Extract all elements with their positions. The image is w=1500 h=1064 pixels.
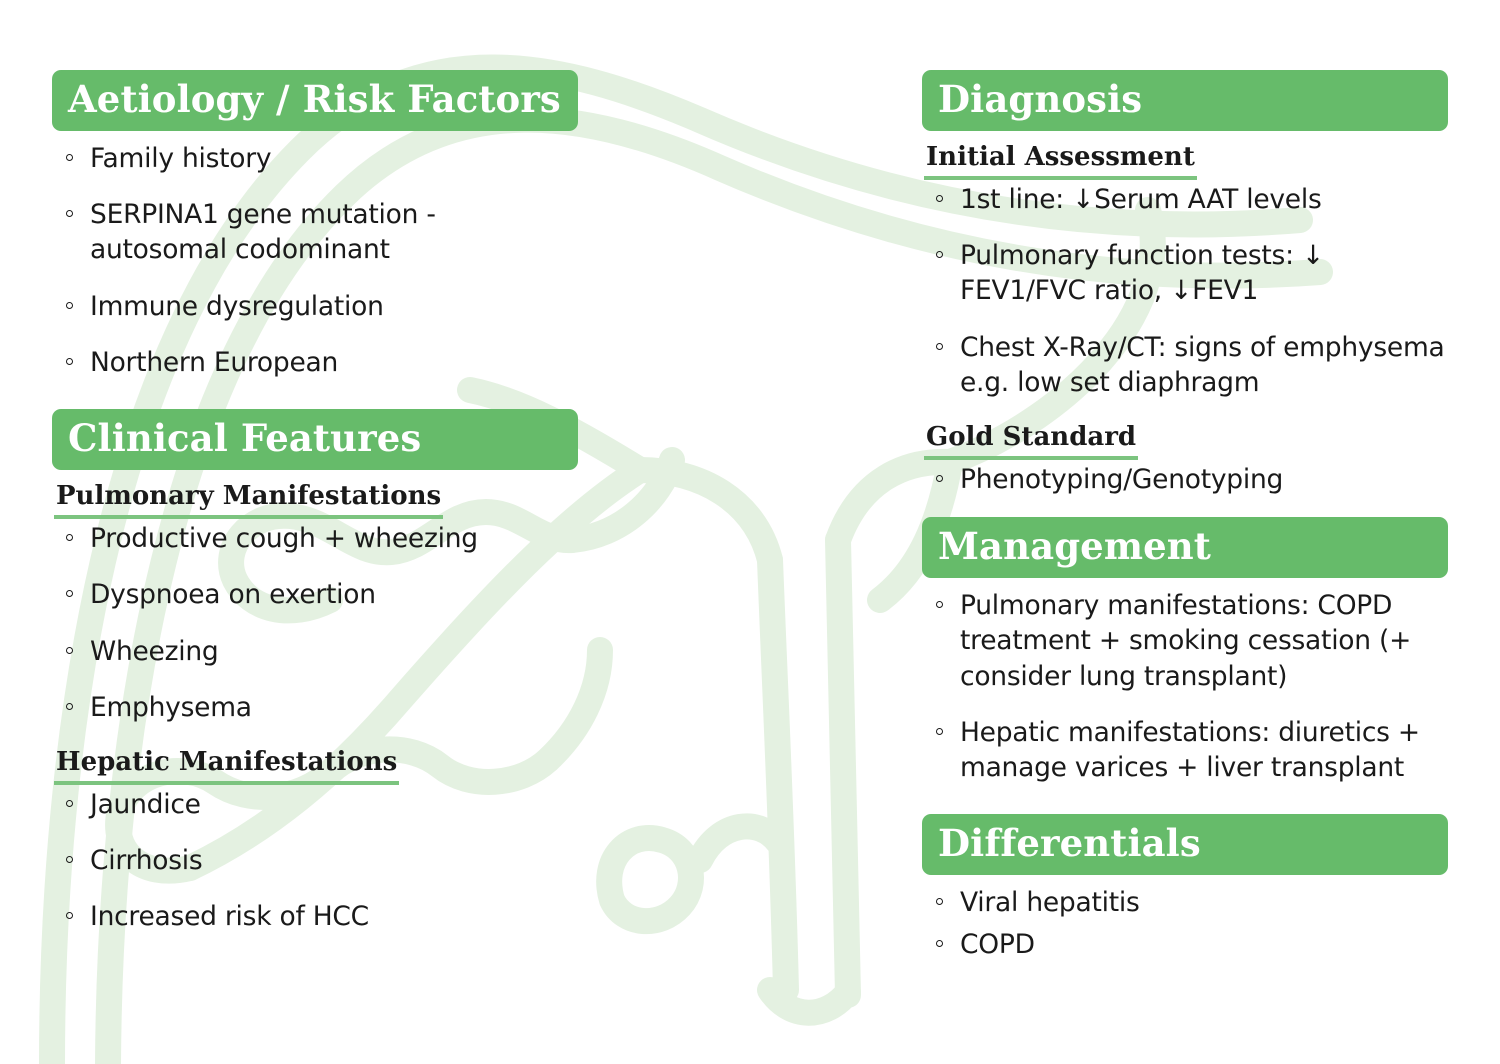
list-item: SERPINA1 gene mutation - autosomal codom… bbox=[52, 197, 578, 267]
subsection-initial-assessment: Initial Assessment bbox=[922, 141, 1448, 182]
list-item: 1st line: ↓Serum AAT levels bbox=[922, 182, 1448, 217]
list-item: Viral hepatitis bbox=[922, 885, 1448, 920]
list-item: Cirrhosis bbox=[52, 843, 578, 878]
list-item: Immune dysregulation bbox=[52, 289, 578, 324]
list-item: Pulmonary function tests: ↓ FEV1/FVC rat… bbox=[922, 238, 1448, 308]
subsection-title-initial-assessment: Initial Assessment bbox=[924, 143, 1197, 180]
bullet-list-management: Pulmonary manifestations: COPD treatment… bbox=[922, 588, 1448, 785]
subsection-title-pulmonary-manifestations: Pulmonary Manifestations bbox=[54, 482, 443, 519]
list-item: Jaundice bbox=[52, 787, 578, 822]
list-item: Dyspnoea on exertion bbox=[52, 577, 578, 612]
left-column: Aetiology / Risk Factors Family history … bbox=[52, 70, 578, 956]
section-header-differentials: Differentials bbox=[922, 814, 1448, 875]
section-differentials: Differentials Viral hepatitis COPD bbox=[922, 814, 1448, 961]
list-item: Phenotyping/Genotyping bbox=[922, 462, 1448, 497]
section-header-aetiology-risk-factors: Aetiology / Risk Factors bbox=[52, 70, 578, 131]
list-item: Hepatic manifestations: diuretics + mana… bbox=[922, 715, 1448, 785]
section-header-diagnosis: Diagnosis bbox=[922, 70, 1448, 131]
subsection-title-hepatic-manifestations: Hepatic Manifestations bbox=[54, 748, 399, 785]
subsection-title-gold-standard: Gold Standard bbox=[924, 423, 1138, 460]
bullet-list-pulmonary-manifestations: Productive cough + wheezing Dyspnoea on … bbox=[52, 521, 578, 725]
subsection-hepatic-manifestations: Hepatic Manifestations bbox=[52, 746, 578, 787]
section-diagnosis: Diagnosis Initial Assessment 1st line: ↓… bbox=[922, 70, 1448, 497]
bullet-list-differentials: Viral hepatitis COPD bbox=[922, 885, 1448, 961]
list-item: Chest X-Ray/CT: signs of emphysema e.g. … bbox=[922, 330, 1448, 400]
spacer bbox=[922, 503, 1448, 517]
list-item: Emphysema bbox=[52, 690, 578, 725]
spacer bbox=[52, 401, 578, 409]
bullet-list-aetiology: Family history SERPINA1 gene mutation - … bbox=[52, 141, 578, 380]
section-header-clinical-features: Clinical Features bbox=[52, 409, 578, 470]
section-clinical-features: Clinical Features Pulmonary Manifestatio… bbox=[52, 409, 578, 934]
subsection-gold-standard: Gold Standard bbox=[922, 421, 1448, 462]
spacer bbox=[922, 806, 1448, 814]
list-item: Pulmonary manifestations: COPD treatment… bbox=[922, 588, 1448, 694]
list-item: Productive cough + wheezing bbox=[52, 521, 578, 556]
section-management: Management Pulmonary manifestations: COP… bbox=[922, 517, 1448, 785]
list-item: Northern European bbox=[52, 345, 578, 380]
list-item: Family history bbox=[52, 141, 578, 176]
list-item: Wheezing bbox=[52, 634, 578, 669]
bullet-list-initial-assessment: 1st line: ↓Serum AAT levels Pulmonary fu… bbox=[922, 182, 1448, 400]
bullet-list-gold-standard: Phenotyping/Genotyping bbox=[922, 462, 1448, 497]
subsection-pulmonary-manifestations: Pulmonary Manifestations bbox=[52, 480, 578, 521]
list-item: COPD bbox=[922, 927, 1448, 962]
right-column: Diagnosis Initial Assessment 1st line: ↓… bbox=[922, 70, 1448, 968]
page-content: Aetiology / Risk Factors Family history … bbox=[0, 0, 1500, 1064]
bullet-list-hepatic-manifestations: Jaundice Cirrhosis Increased risk of HCC bbox=[52, 787, 578, 935]
section-header-management: Management bbox=[922, 517, 1448, 578]
list-item: Increased risk of HCC bbox=[52, 899, 578, 934]
section-aetiology-risk-factors: Aetiology / Risk Factors Family history … bbox=[52, 70, 578, 380]
